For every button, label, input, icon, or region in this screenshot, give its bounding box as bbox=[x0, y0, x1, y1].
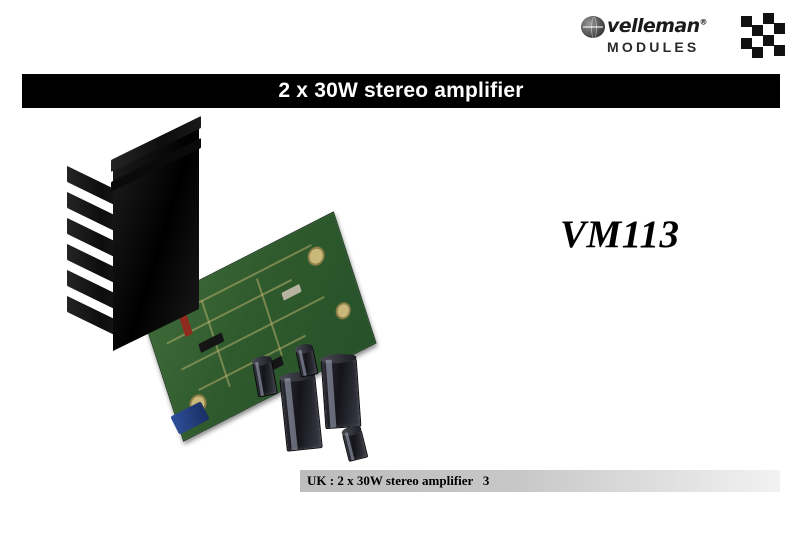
footer-text: UK : 2 x 30W stereo amplifier 3 bbox=[307, 473, 489, 489]
heatsink bbox=[67, 144, 197, 344]
checkered-flag-icon bbox=[741, 14, 785, 56]
capacitor-large-1 bbox=[279, 374, 323, 451]
brand-name-text: velleman bbox=[607, 15, 700, 37]
brand-trademark: ® bbox=[700, 18, 707, 27]
page-title-bar: 2 x 30W stereo amplifier bbox=[22, 74, 780, 108]
velleman-logo: velleman® MODULES bbox=[581, 14, 785, 58]
capacitor-large-2 bbox=[321, 357, 362, 429]
capacitor-small-3 bbox=[342, 428, 369, 462]
brand-subtitle: MODULES bbox=[607, 39, 699, 55]
product-code: VM113 bbox=[560, 212, 680, 257]
product-photo bbox=[55, 130, 385, 405]
brand-name: velleman® bbox=[607, 15, 707, 37]
page-title: 2 x 30W stereo amplifier bbox=[278, 79, 523, 103]
globe-icon bbox=[581, 16, 605, 38]
